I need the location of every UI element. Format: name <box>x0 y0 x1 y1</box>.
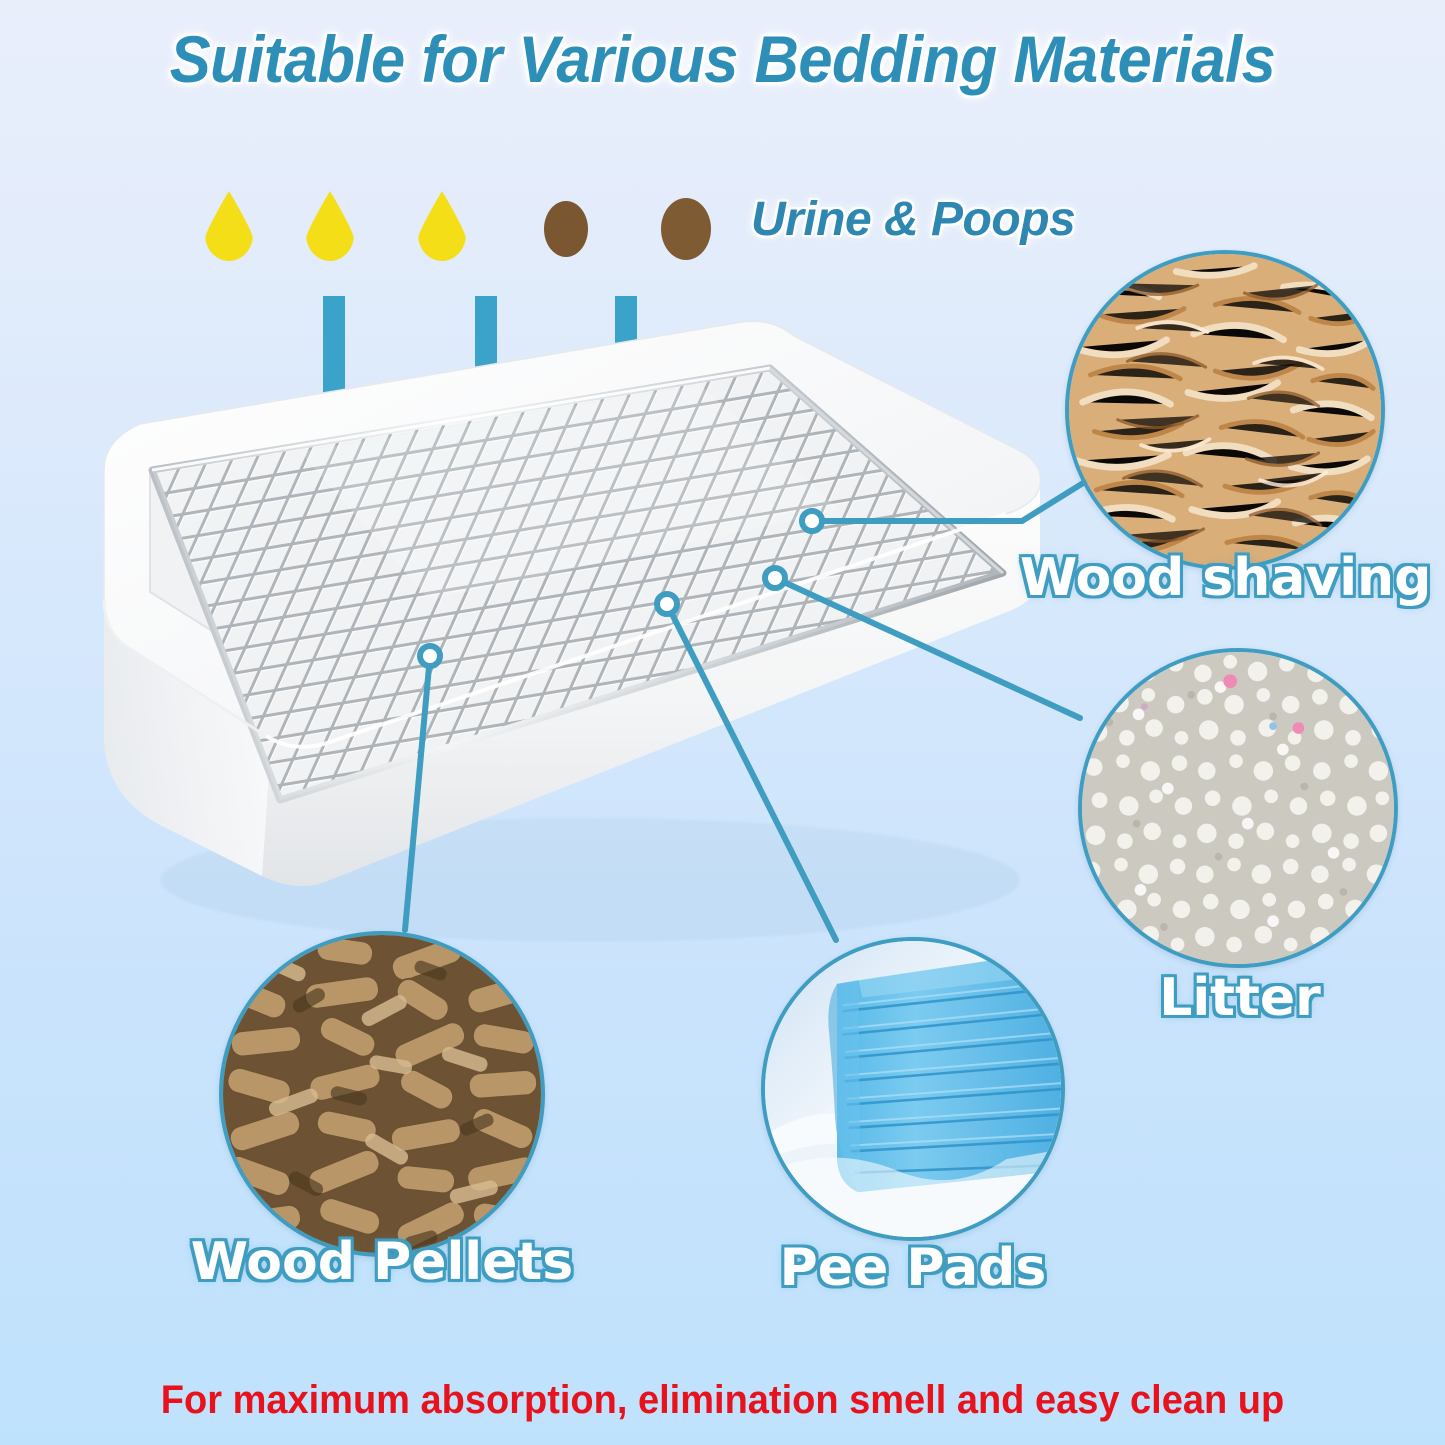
callout-dot-litter <box>765 568 785 588</box>
swatch-pee-pads <box>761 937 1065 1241</box>
wood-shavings-texture <box>1069 254 1381 566</box>
pee-pads-texture <box>765 941 1061 1237</box>
swatch-wood-shaving <box>1065 250 1385 570</box>
swatch-wood-pellets <box>219 931 545 1257</box>
caption-wood-shaving: Wood shaving <box>1020 548 1430 608</box>
callout-dot-wood-shaving <box>802 511 822 531</box>
steel-mesh-grate <box>0 0 1445 1240</box>
callout-dot-pee-pads <box>657 594 677 614</box>
wood-pellets-texture <box>223 935 541 1253</box>
footer-caption: For maximum absorption, elimination smel… <box>36 1378 1409 1423</box>
infographic-canvas: Suitable for Various Bedding Materials U… <box>0 0 1445 1445</box>
caption-pee-pads: Pee Pads <box>730 1238 1096 1298</box>
litter-pellets-texture <box>1082 652 1394 964</box>
caption-litter: Litter <box>1050 968 1430 1028</box>
callout-dot-wood-pellets <box>420 646 440 666</box>
swatch-litter <box>1078 648 1398 968</box>
caption-wood-pellets: Wood Pellets <box>180 1232 584 1292</box>
